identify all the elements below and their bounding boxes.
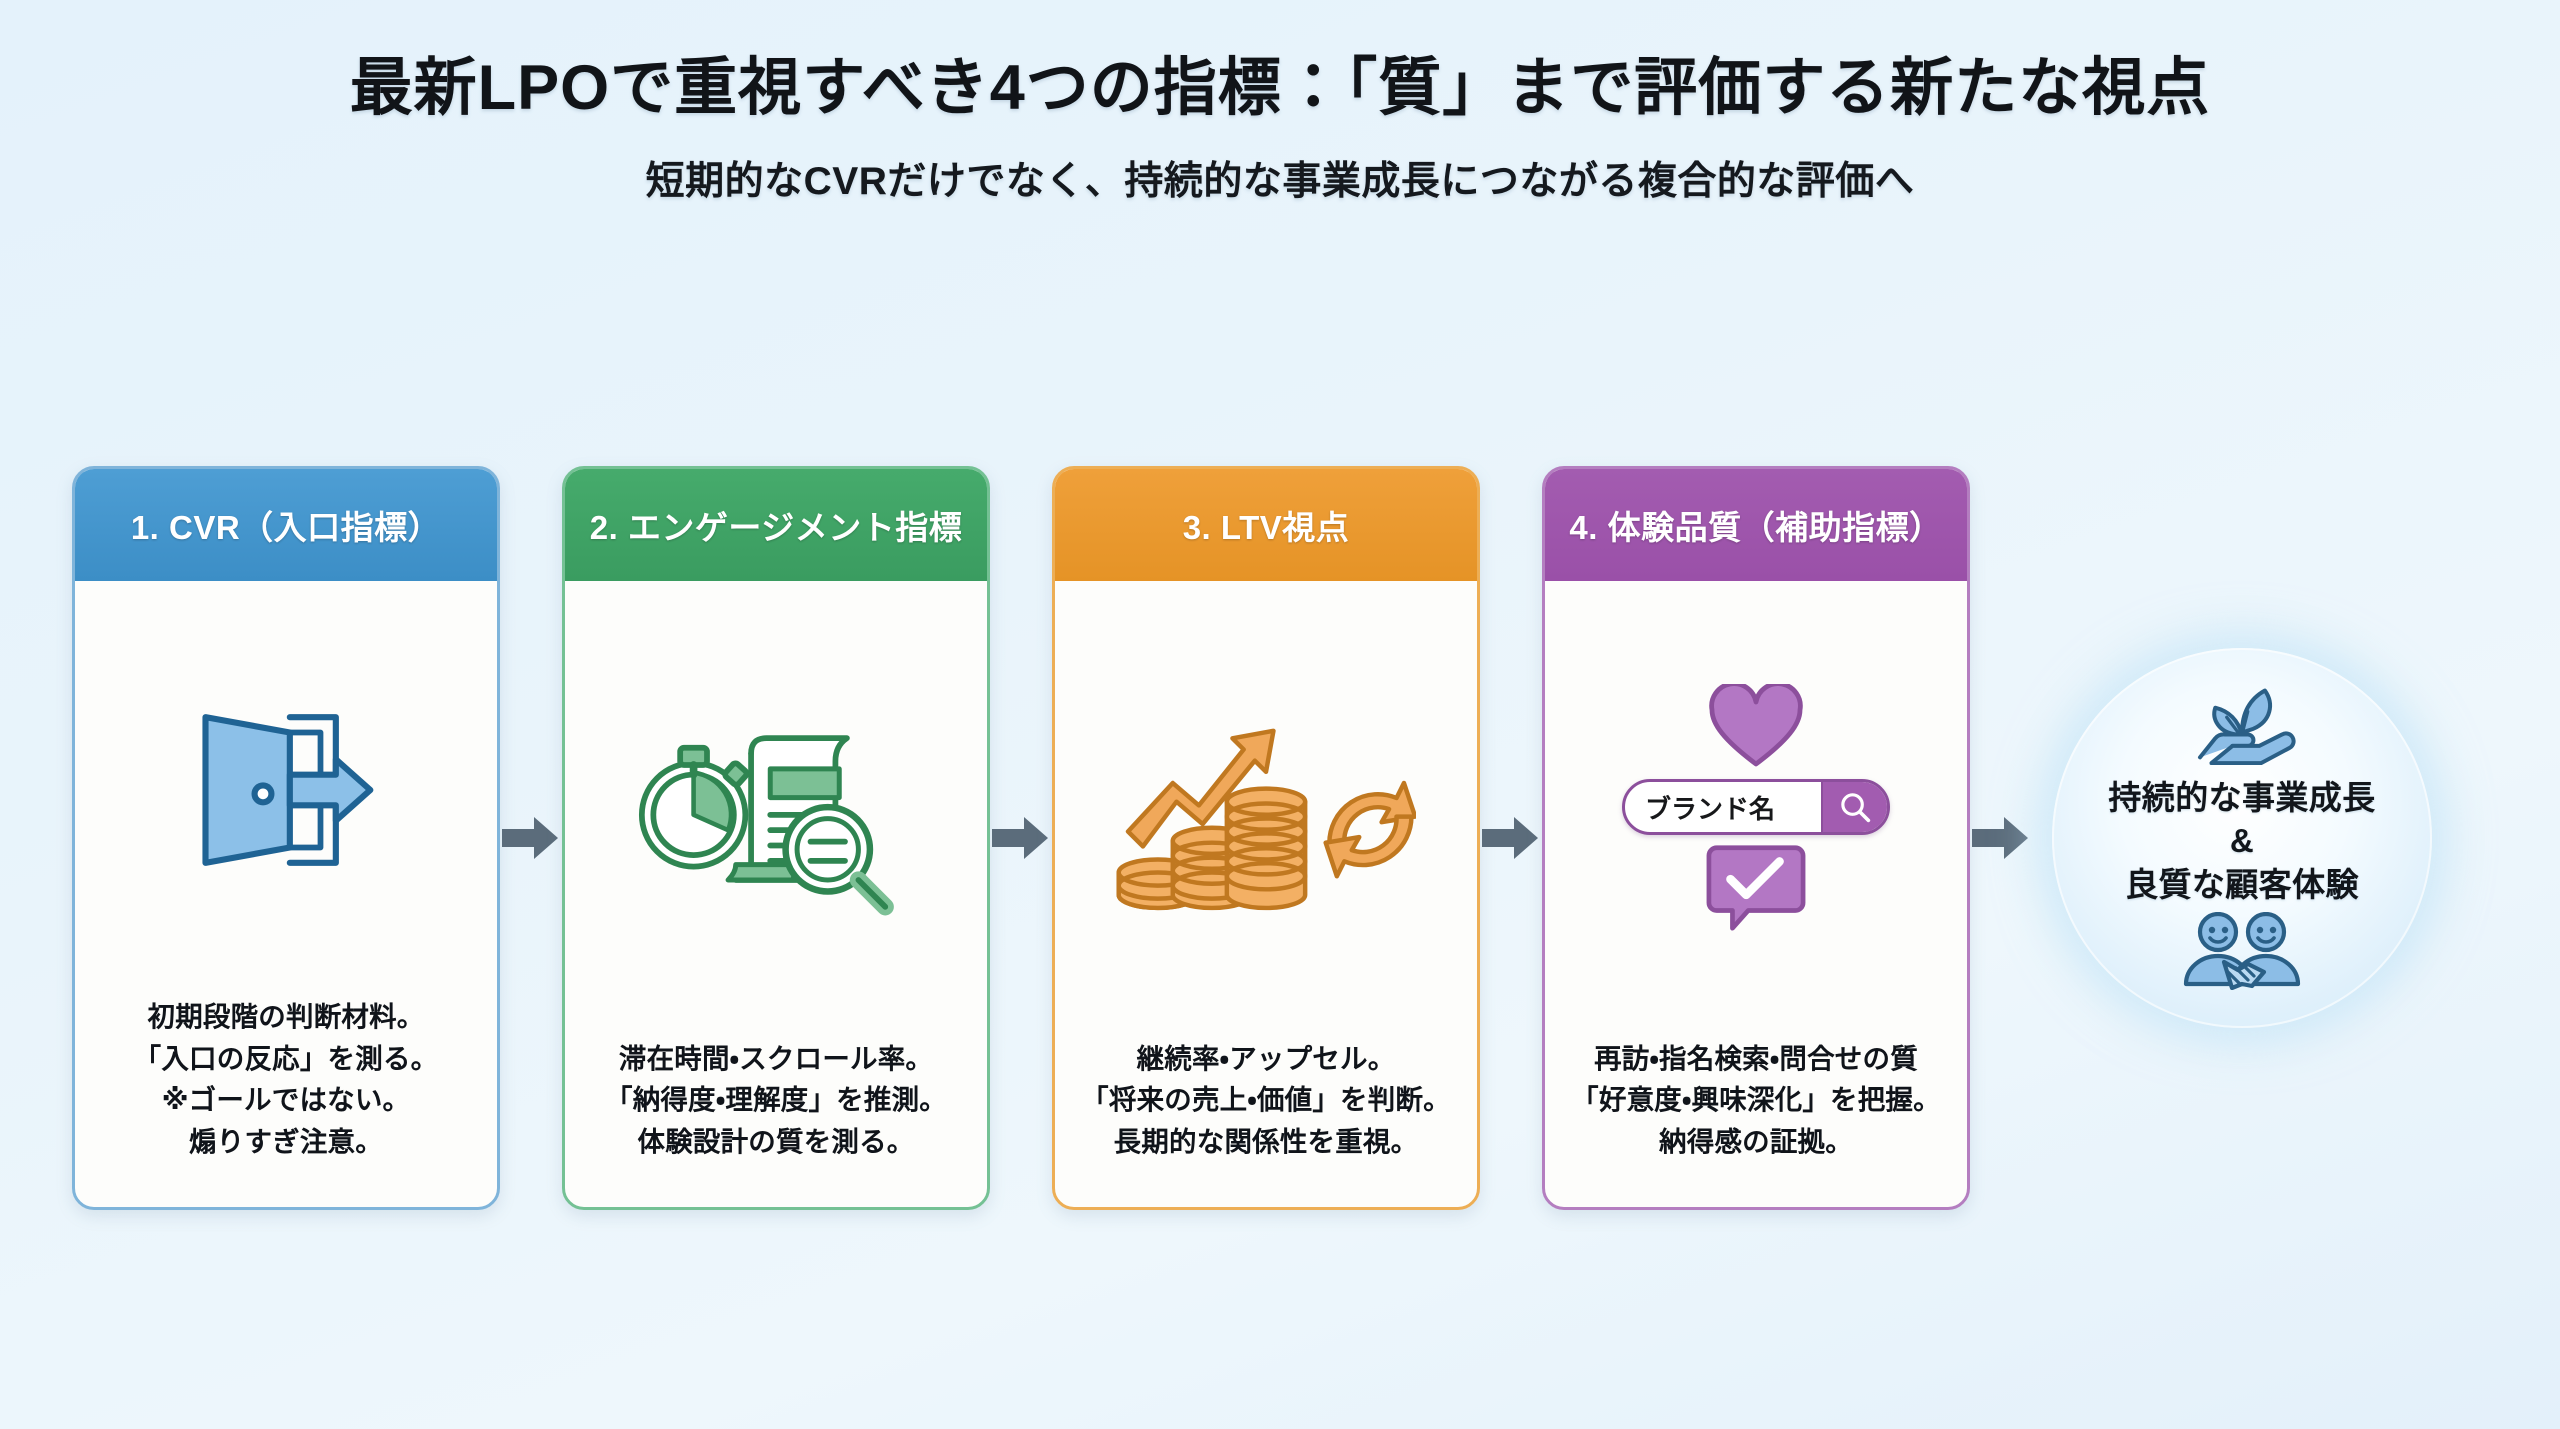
body-line: 継続率・アップセル。 [1067,1038,1465,1080]
metric-card-body: 再訪・指名検索・問合せの質 「好意度・興味深化」を把握。 納得感の証拠。 [1545,1038,1967,1207]
stopwatch-document-magnifier-icon [565,581,987,1038]
body-line: 体験設計の質を測る。 [577,1121,975,1163]
body-line: ※ゴールではない。 [87,1079,485,1121]
body-line: 「好意度・興味深化」を把握。 [1557,1079,1955,1121]
metric-card-cvr[interactable]: 1. CVR（入口指標） 初期段階の判断材料。 「入口の反応」を測る。 ※ゴール… [72,466,500,1210]
goal-line: & [2108,819,2375,863]
flow-arrow-3 [1480,466,1542,1210]
body-line: 煽りすぎ注意。 [87,1121,485,1163]
door-exit-icon [75,581,497,996]
page-header: 最新LPOで重視すべき4つの指標：「質」まで評価する新たな視点 短期的なCVRだ… [0,0,2560,206]
metric-card-ltv[interactable]: 3. LTV視点 [1052,466,1480,1210]
metric-card-header: 2. エンゲージメント指標 [565,469,987,581]
body-line: 「納得度・理解度」を推測。 [577,1079,975,1121]
metric-card-body: 継続率・アップセル。 「将来の売上・価値」を判断。 長期的な関係性を重視。 [1055,1038,1477,1207]
metric-card-experience-quality[interactable]: 4. 体験品質（補助指標） ブランド名 [1542,466,1970,1210]
search-icon[interactable] [1821,782,1887,832]
heart-icon [1708,684,1804,773]
metric-card-body: 初期段階の判断材料。 「入口の反応」を測る。 ※ゴールではない。 煽りすぎ注意。 [75,996,497,1207]
metric-card-header: 3. LTV視点 [1055,469,1477,581]
metric-card-header: 4. 体験品質（補助指標） [1545,469,1967,581]
brand-search-box[interactable]: ブランド名 [1622,779,1890,835]
body-line: 「入口の反応」を測る。 [87,1038,485,1080]
chat-bubble-check-icon [1705,841,1807,938]
page-title: 最新LPOで重視すべき4つの指標：「質」まで評価する新たな視点 [0,52,2560,124]
handshake-people-icon [2176,912,2308,995]
metric-card-header: 1. CVR（入口指標） [75,469,497,581]
goal-line: 良質な顧客体験 [2108,863,2375,907]
coins-growth-recycle-icon [1055,581,1477,1038]
heart-search-chat-icon: ブランド名 [1545,581,1967,1038]
body-line: 再訪・指名検索・問合せの質 [1557,1038,1955,1080]
body-line: 長期的な関係性を重視。 [1067,1121,1465,1163]
flow-arrow-1 [500,466,562,1210]
body-line: 納得感の証拠。 [1557,1121,1955,1163]
brand-search-input[interactable]: ブランド名 [1625,789,1821,826]
flow-arrow-4 [1970,466,2032,1210]
goal-text: 持続的な事業成長 & 良質な顧客体験 [2108,776,2375,907]
flow-arrow-2 [990,466,1052,1210]
goal-circle: 持続的な事業成長 & 良質な顧客体験 [2052,648,2432,1028]
hand-sprout-icon [2183,681,2301,770]
experience-icon-stack: ブランド名 [1622,684,1890,938]
body-line: 「将来の売上・価値」を判断。 [1067,1079,1465,1121]
page-subtitle: 短期的なCVRだけでなく、持続的な事業成長につながる複合的な評価へ [0,150,2560,206]
metric-card-engagement[interactable]: 2. エンゲージメント指標 [562,466,990,1210]
goal-line: 持続的な事業成長 [2108,776,2375,820]
body-line: 滞在時間・スクロール率。 [577,1038,975,1080]
metric-card-body: 滞在時間・スクロール率。 「納得度・理解度」を推測。 体験設計の質を測る。 [565,1038,987,1207]
goal-outcome: 持続的な事業成長 & 良質な顧客体験 [2042,466,2442,1210]
metrics-flow: 1. CVR（入口指標） 初期段階の判断材料。 「入口の反応」を測る。 ※ゴール… [0,466,2560,1226]
body-line: 初期段階の判断材料。 [87,996,485,1038]
